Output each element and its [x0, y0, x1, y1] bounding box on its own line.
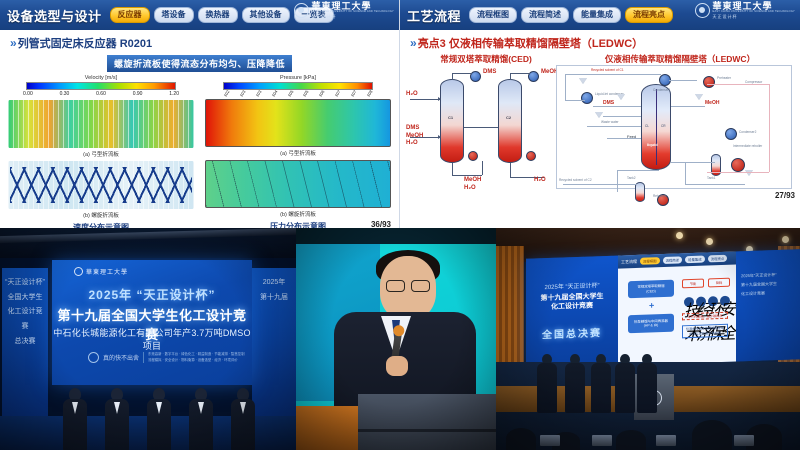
pressure-tick: 105 — [302, 89, 310, 98]
screen-line-3: 中石化长城能源化工有限公司年产3.7万吨DMSO项目 — [52, 326, 252, 352]
tab-process-block-diagram[interactable]: 流程框图 — [469, 7, 517, 23]
pressure-contour-segmental-baffle — [205, 99, 391, 147]
led-slide-tab-3: 流程亮点 — [708, 255, 728, 263]
ledwc-condenser2-label: Condenser2 — [739, 130, 756, 134]
photo-strip: “天正设计杯” 全国大学生 化工设计竞赛 总决赛 2025年 第十九届 華東理工… — [0, 228, 800, 450]
screen-logo-text: 華東理工大學 — [86, 267, 128, 276]
diagrams-row: C1 C2 — [400, 65, 800, 189]
team-member — [614, 354, 636, 412]
led-left-line-3: 全国总决赛 — [526, 324, 618, 342]
right-slide-title-row: » 亮点3 仅液相传输萃取精馏隔壁塔（LEDWC） — [410, 35, 800, 51]
ced-bottom2-label: H₂O — [534, 177, 546, 183]
ledwc-tank2-label: Tank2 — [627, 176, 636, 180]
velocity-colorbar — [26, 82, 176, 90]
audience-row — [496, 410, 800, 450]
photo-team-on-stage: “天正设计杯” 全国大学生 化工设计竞赛 总决赛 2025年 第十九届 華東理工… — [0, 228, 296, 450]
presenter-glasses — [386, 280, 430, 290]
screen-footer: 真的快不出舍 东莞高新 · 数字平台 · 绿色化工 · 精益制造 · 节能减排 … — [88, 352, 244, 363]
led-slide-tab-2: 能量集成 — [685, 256, 705, 264]
tab-energy-integration[interactable]: 能量集成 — [573, 7, 621, 23]
banner-right: 2025年 第十九届 — [252, 268, 296, 418]
ced-column-c1 — [440, 79, 464, 163]
university-seal-icon — [74, 267, 83, 276]
pressure-figure-block: Pressure [kPa] 102 103 103 104 105 105 1… — [205, 75, 391, 228]
left-header-title: 设备选型与设计 — [7, 6, 102, 25]
ledwc-liquid-label: liquid — [647, 142, 658, 147]
led-left-line-1: 2025年 “天正设计杯” — [526, 280, 618, 292]
team-member — [230, 388, 256, 450]
ced-reboiler-2 — [526, 151, 536, 161]
velocity-contour-helical-baffle — [8, 161, 194, 209]
photo-led-wall: 2025年 “天正设计杯” 第十九届全国大学生 化工设计竞赛 全国总决赛 工艺流… — [496, 228, 800, 450]
ledwc-liquid-condenser — [581, 92, 593, 104]
ledwc-waste-water-label: Waste water — [601, 120, 619, 124]
competition-logo-text: 天正设计杯 — [312, 15, 337, 19]
left-slide-title: 列管式固定床反应器 R0201 — [18, 35, 152, 51]
team-member — [636, 354, 658, 412]
led-slide-box-2: 热泵精馏与中间再沸器 (HP & IR) — [628, 314, 674, 334]
velocity-colorbar-title: Velocity [m/s] — [8, 75, 194, 81]
pressure-contour-helical-baffle — [205, 160, 391, 208]
ledwc-preheater — [703, 76, 715, 88]
left-slide-header: 设备选型与设计 反应器 塔设备 换热器 其他设备 一览表 華東理工大學 EAST… — [0, 0, 399, 30]
screen-footer-small: 东莞高新 · 数字平台 · 绿色化工 · 精益制造 · 节能减排 · 智慧控制 … — [143, 352, 244, 362]
right-slide: 工艺流程 流程框图 流程简述 能量集成 流程亮点 華東理工大學 EAST CHI… — [400, 0, 800, 228]
velocity-figure-block: Velocity [m/s] 0.00 0.30 0.60 0.90 1.20 … — [8, 75, 194, 228]
ced-feed-water-label: H₂O — [406, 91, 418, 97]
team-member — [590, 354, 612, 412]
ledwc-preheater-label: Preheater — [717, 76, 731, 80]
ced-bottom1-label: MeOH H₂O — [464, 177, 481, 192]
presenter-podium — [358, 394, 496, 450]
ceiling — [0, 228, 296, 258]
presenter-hand — [386, 356, 408, 376]
dividing-wall — [656, 89, 657, 165]
ledwc-tank-2 — [635, 182, 645, 202]
tab-process-highlights[interactable]: 流程亮点 — [625, 7, 673, 23]
ledwc-condenser1-label: Condenser1 — [653, 88, 670, 92]
team-member — [62, 388, 88, 450]
ledwc-recycle-bottom-label: Recycled solvent of C2 — [559, 178, 592, 182]
right-slide-body: » 亮点3 仅液相传输萃取精馏隔壁塔（LEDWC） 常规双塔萃取精馏(CED) … — [400, 35, 800, 228]
left-slide-body: » 列管式固定床反应器 R0201 螺旋折流板使得流态分布均匀、压降降低 Vel… — [0, 35, 399, 228]
presenter-side-wall — [296, 406, 358, 450]
velocity-fig-a-caption: (a) 弓型折流板 — [8, 150, 194, 158]
ledwc-tank-1 — [711, 154, 721, 176]
team-member — [104, 388, 130, 450]
competition-logo-text: 天正设计杯 — [713, 15, 738, 19]
university-seal-icon — [294, 3, 309, 18]
velocity-tick: 0.90 — [133, 91, 143, 97]
ced-column-c2 — [498, 79, 522, 163]
led-slide-plus: + — [649, 300, 654, 310]
velocity-fig-b-caption: (b) 螺旋折流板 — [8, 211, 194, 219]
led-slide-blue-note: 仅液相传输萃取精馏隔壁塔 单塔实现双塔分离效果 — [682, 324, 728, 339]
led-slide-dot: 技术 — [684, 297, 694, 307]
team-member — [536, 354, 558, 412]
led-slide-dot: 经济 — [696, 296, 706, 306]
left-slide: 设备选型与设计 反应器 塔设备 换热器 其他设备 一览表 華東理工大學 EAST… — [0, 0, 400, 228]
right-slide-header: 工艺流程 流程框图 流程简述 能量集成 流程亮点 華東理工大學 EAST CHI… — [400, 0, 800, 30]
tab-heat-exchanger[interactable]: 换热器 — [198, 7, 238, 23]
ced-reboiler-1 — [468, 151, 478, 161]
ledwc-reboiler-2 — [731, 158, 745, 172]
velocity-contour-segmental-baffle — [8, 100, 194, 148]
led-slide-tag-2: 降耗 — [708, 278, 730, 288]
university-logo-right: 華東理工大學 EAST CHINA UNIVERSITY OF SCIENCE … — [695, 2, 795, 19]
led-slide-dot: 安全 — [720, 296, 730, 306]
led-slide-title: 工艺流程 — [621, 258, 637, 265]
left-slide-ribbon: 螺旋折流板使得流态分布均匀、压降降低 — [107, 55, 292, 72]
ledwc-diagram: CL CR liquid Recycled solvent of C1 Recy… — [556, 65, 792, 189]
led-left-line-2: 第十九届全国大学生 化工设计竞赛 — [526, 292, 618, 314]
cfd-figures: Velocity [m/s] 0.00 0.30 0.60 0.90 1.20 … — [0, 72, 399, 228]
pressure-fig-a-caption: (a) 弓型折流板 — [205, 149, 391, 157]
ledwc-recycle-top-label: Recycled solvent of C1 — [591, 68, 624, 72]
ledwc-subheading: 仅液相传输萃取精馏隔壁塔（LEDWC） — [566, 53, 794, 65]
pressure-fig-b-caption: (b) 螺旋折流板 — [205, 210, 391, 218]
team-member — [564, 354, 586, 412]
screen-line-1: 2025年 “天正设计杯” — [52, 286, 252, 303]
ledwc-tank1-label: Tank1 — [707, 176, 716, 180]
led-right-panel: 2025年“天正设计杯” 第十九届全国大学生 化工设计竞赛 — [736, 249, 800, 361]
tab-reactor[interactable]: 反应器 — [110, 7, 150, 23]
pressure-tick: 108 — [365, 89, 373, 98]
led-slide-tab-1: 流程简述 — [663, 256, 683, 264]
presentation-screenshot: 设备选型与设计 反应器 塔设备 换热器 其他设备 一览表 華東理工大學 EAST… — [0, 0, 800, 450]
pressure-tick: 106 — [318, 89, 326, 98]
ced-top1-dms-label: DMS — [483, 69, 496, 75]
velocity-tick: 0.00 — [23, 91, 33, 97]
pressure-colorbar-title: Pressure [kPa] — [205, 75, 391, 81]
led-slide-dots: 技术 经济 环保 安全 — [684, 296, 730, 308]
slides-row: 设备选型与设计 反应器 塔设备 换热器 其他设备 一览表 華東理工大學 EAST… — [0, 0, 800, 228]
team-member — [188, 388, 214, 450]
stage-screen: 華東理工大學 2025年 “天正设计杯” 第十九届全国大学生化工设计竞赛 中石化… — [52, 260, 252, 385]
pressure-tick: 107 — [349, 89, 357, 98]
led-slide-box-1: 常规双塔萃取精馏 (CED) — [628, 280, 674, 299]
banner-left: “天正设计杯” 全国大学生 化工设计竞赛 总决赛 — [2, 268, 48, 418]
chevron-right-icon: » — [410, 36, 415, 50]
left-slide-title-row: » 列管式固定床反应器 R0201 — [10, 35, 399, 51]
team-member — [146, 388, 172, 450]
pressure-tick: 102 — [222, 89, 230, 98]
pressure-tick: 107 — [334, 89, 342, 98]
led-slide-red-note: 年节约能耗、减少碳排放 — [682, 312, 728, 321]
ced-c1-label: C1 — [448, 115, 453, 120]
led-left-panel: 2025年 “天正设计杯” 第十九届全国大学生 化工设计竞赛 全国总决赛 — [526, 256, 618, 369]
pressure-tick: 104 — [270, 89, 278, 98]
ced-c2-label: C2 — [506, 115, 511, 120]
pressure-colorbar — [223, 82, 373, 90]
tab-other-equipment[interactable]: 其他设备 — [242, 7, 290, 23]
ledwc-condenser-2 — [725, 128, 737, 140]
velocity-tick: 1.20 — [169, 91, 179, 97]
pressure-tick: 103 — [254, 89, 262, 98]
presenter-top-shadow — [296, 228, 496, 244]
photo-presenter — [296, 228, 496, 450]
tab-process-description[interactable]: 流程简述 — [521, 7, 569, 23]
university-logo-left: 華東理工大學 EAST CHINA UNIVERSITY OF SCIENCE … — [294, 2, 394, 19]
led-slide-tag-1: 节能 — [682, 279, 704, 289]
screen-university-logo: 華東理工大學 — [74, 267, 128, 276]
left-slide-page-number: 36/93 — [371, 220, 391, 228]
led-slide-header: 工艺流程 流程框图 流程简述 能量集成 流程亮点 — [618, 251, 736, 268]
right-slide-page-number: 27/93 — [775, 191, 795, 200]
right-header-tabs: 流程框图 流程简述 能量集成 流程亮点 — [469, 7, 673, 23]
sponsor-logo-icon — [88, 352, 99, 363]
ced-diagram: C1 C2 — [404, 65, 556, 189]
velocity-colorbar-ticks: 0.00 0.30 0.60 0.90 1.20 — [23, 91, 179, 97]
pressure-tick: 105 — [286, 89, 294, 98]
chevron-right-icon: » — [10, 36, 15, 50]
ledwc-left-section-label: CL — [645, 124, 649, 128]
screen-footer-brand: 真的快不出舍 — [103, 353, 139, 362]
pressure-caption: 压力分布示意图 — [205, 221, 391, 228]
velocity-tick: 0.60 — [96, 91, 106, 97]
velocity-tick: 0.30 — [60, 91, 70, 97]
ledwc-intermediate-reboiler-label: Intermediate reboiler — [733, 144, 762, 148]
right-slide-title: 亮点3 仅液相传输萃取精馏隔壁塔（LEDWC） — [418, 35, 644, 51]
ledwc-right-section-label: CR — [661, 124, 666, 128]
led-slide-tab-0: 流程框图 — [640, 257, 660, 265]
ledwc-meoh-label: MeOH — [705, 100, 719, 106]
led-slide-dot: 环保 — [708, 296, 718, 306]
led-mid-slide: 工艺流程 流程框图 流程简述 能量集成 流程亮点 常规双塔萃取精馏 (CED) … — [618, 251, 736, 365]
pressure-tick: 103 — [238, 89, 246, 98]
diagram-subheadings: 常规双塔萃取精馏(CED) 仅液相传输萃取精馏隔壁塔（LEDWC） — [400, 51, 800, 65]
right-header-title: 工艺流程 — [407, 6, 461, 25]
ledwc-reboiler1-label: Reboiler1 — [653, 194, 667, 198]
led-wall: 2025年 “天正设计杯” 第十九届全国大学生 化工设计竞赛 全国总决赛 工艺流… — [526, 249, 800, 369]
university-seal-icon — [695, 3, 710, 18]
ced-subheading: 常规双塔萃取精馏(CED) — [406, 53, 566, 65]
tab-column-equipment[interactable]: 塔设备 — [154, 7, 194, 23]
pressure-colorbar-ticks: 102 103 103 104 105 105 106 107 107 108 — [223, 91, 373, 96]
